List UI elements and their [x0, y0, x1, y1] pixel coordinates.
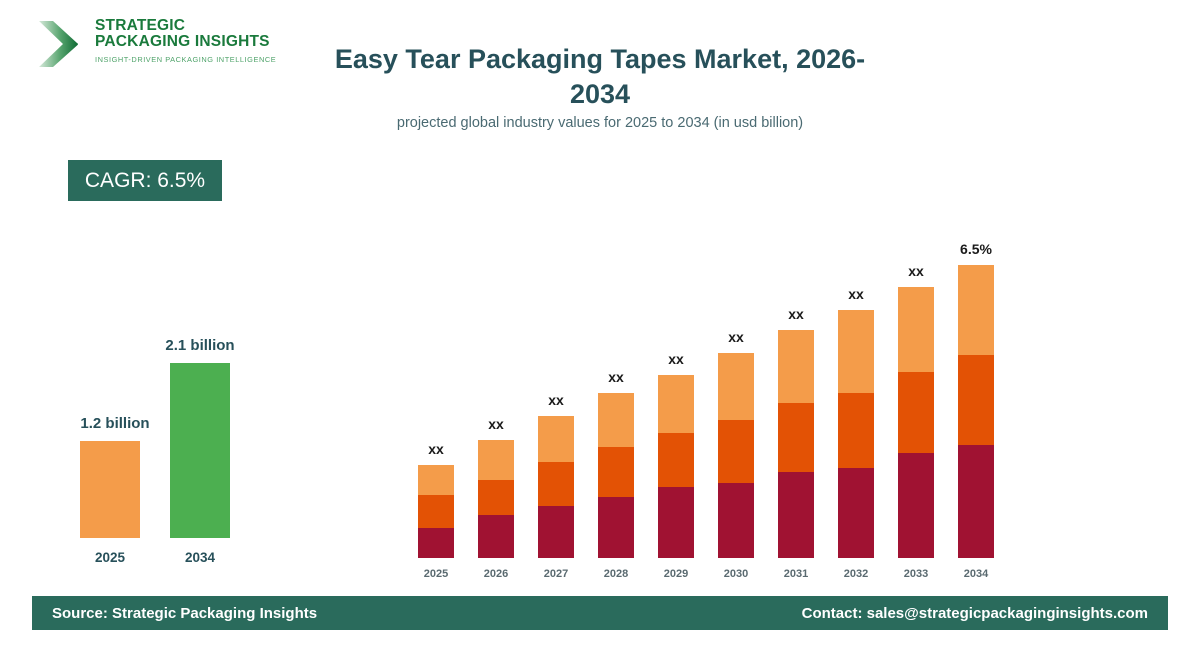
endpoint-category-2034: 2034	[170, 550, 230, 565]
bar-segment-segment-1	[718, 483, 754, 558]
bar-segment-segment-1	[478, 515, 514, 558]
stacked-bar-column: xx2032	[838, 310, 874, 558]
endpoint-bar-2034	[170, 363, 230, 538]
endpoint-value-2025: 1.2 billion	[45, 415, 185, 432]
bar-category-label: 2029	[650, 568, 702, 580]
bar-category-label: 2025	[410, 568, 462, 580]
page-subtitle: projected global industry values for 202…	[310, 115, 890, 131]
bar-category-label: 2028	[590, 568, 642, 580]
stacked-bar-column: xx2030	[718, 353, 754, 558]
bar-segment-segment-2	[658, 433, 694, 487]
bar-segment-segment-1	[958, 445, 994, 558]
bar-segment-segment-1	[898, 453, 934, 558]
stacked-bar-column: xx2025	[418, 465, 454, 558]
brand-line-1: STRATEGIC	[95, 18, 276, 34]
bar-segment-segment-2	[598, 447, 634, 497]
bar-segment-segment-1	[658, 487, 694, 558]
bar-segment-segment-1	[778, 472, 814, 558]
bar-value-label: xx	[890, 263, 942, 279]
stacked-forecast-chart: xx2025xx2026xx2027xx2028xx2029xx2030xx20…	[418, 200, 1018, 558]
endpoint-bar-2025	[80, 441, 140, 538]
bar-value-label: xx	[530, 392, 582, 408]
bar-segment-segment-2	[898, 372, 934, 453]
bar-segment-segment-3	[718, 353, 754, 420]
bar-value-label: xx	[770, 306, 822, 322]
bar-segment-segment-2	[778, 403, 814, 472]
bar-category-label: 2026	[470, 568, 522, 580]
bar-segment-segment-2	[478, 480, 514, 515]
bar-segment-segment-3	[898, 287, 934, 372]
footer-contact: Contact: sales@strategicpackaginginsight…	[802, 605, 1148, 622]
endpoint-category-2025: 2025	[80, 550, 140, 565]
bar-value-label: xx	[470, 416, 522, 432]
bar-segment-segment-2	[838, 393, 874, 468]
stacked-bar-column: xx2027	[538, 416, 574, 558]
footer-bar: Source: Strategic Packaging Insights Con…	[32, 596, 1168, 630]
stacked-bar-column: xx2031	[778, 330, 814, 558]
stacked-bar-column: xx2026	[478, 440, 514, 558]
bar-segment-segment-3	[478, 440, 514, 480]
stacked-bar-column: 6.5%2034	[958, 265, 994, 558]
stacked-bar-column: xx2028	[598, 393, 634, 558]
infographic-canvas: STRATEGIC PACKAGING INSIGHTS INSIGHT-DRI…	[0, 0, 1200, 650]
bar-segment-segment-3	[838, 310, 874, 393]
bar-category-label: 2031	[770, 568, 822, 580]
bar-value-label: 6.5%	[950, 241, 1002, 257]
bar-segment-segment-1	[538, 506, 574, 558]
stacked-bar-column: xx2029	[658, 375, 694, 558]
brand-tagline: INSIGHT-DRIVEN PACKAGING INTELLIGENCE	[95, 55, 276, 64]
bar-value-label: xx	[710, 329, 762, 345]
endpoint-comparison-chart: 1.2 billion 2.1 billion 2025 2034	[55, 300, 285, 570]
bar-segment-segment-2	[538, 462, 574, 506]
bar-segment-segment-3	[778, 330, 814, 403]
bar-category-label: 2030	[710, 568, 762, 580]
brand-line-2: PACKAGING INSIGHTS	[95, 34, 276, 50]
cagr-badge: CAGR: 6.5%	[68, 160, 222, 201]
bar-segment-segment-1	[598, 497, 634, 558]
brand-logo: STRATEGIC PACKAGING INSIGHTS INSIGHT-DRI…	[33, 14, 253, 76]
bar-category-label: 2027	[530, 568, 582, 580]
bar-segment-segment-3	[418, 465, 454, 495]
bar-segment-segment-1	[418, 528, 454, 558]
bar-segment-segment-2	[418, 495, 454, 528]
brand-logo-text: STRATEGIC PACKAGING INSIGHTS INSIGHT-DRI…	[95, 18, 276, 64]
bar-segment-segment-2	[958, 355, 994, 445]
bar-segment-segment-3	[538, 416, 574, 462]
bar-segment-segment-3	[598, 393, 634, 447]
endpoint-value-2034: 2.1 billion	[135, 337, 265, 354]
bar-segment-segment-3	[658, 375, 694, 433]
bar-segment-segment-2	[718, 420, 754, 483]
stacked-bar-column: xx2033	[898, 287, 934, 558]
bar-value-label: xx	[830, 286, 882, 302]
bar-category-label: 2032	[830, 568, 882, 580]
bar-value-label: xx	[410, 441, 462, 457]
footer-source: Source: Strategic Packaging Insights	[52, 605, 317, 622]
cagr-badge-label: CAGR: 6.5%	[85, 169, 205, 193]
page-title: Easy Tear Packaging Tapes Market, 2026-2…	[310, 42, 890, 112]
chevron-right-logo-icon	[33, 16, 89, 72]
bar-value-label: xx	[650, 351, 702, 367]
bar-category-label: 2034	[950, 568, 1002, 580]
bar-segment-segment-3	[958, 265, 994, 355]
bar-segment-segment-1	[838, 468, 874, 558]
bar-value-label: xx	[590, 369, 642, 385]
bar-category-label: 2033	[890, 568, 942, 580]
